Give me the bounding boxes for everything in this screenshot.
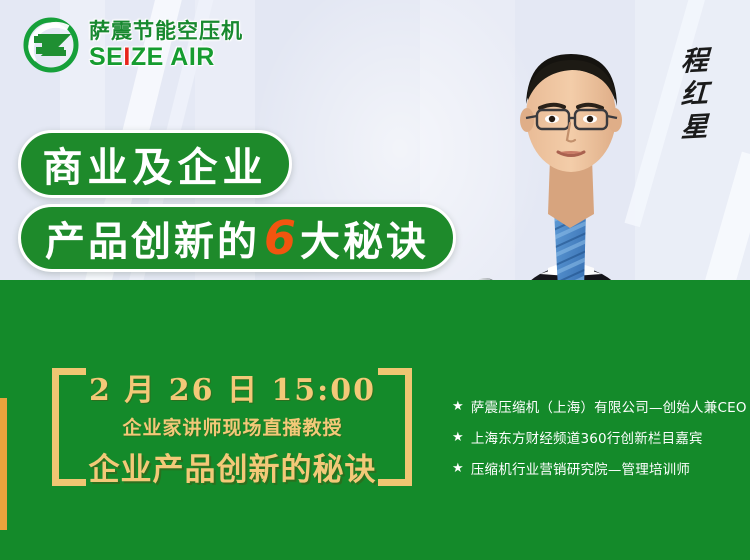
credential-item: ★ 萨震压缩机（上海）有限公司—创始人兼CEO [452,396,742,416]
brand-name-cn: 萨震节能空压机 [89,21,243,42]
bracket-left-vertical [52,368,59,486]
star-icon: ★ [452,431,464,444]
bracket-right-vertical [405,368,412,486]
speaker-name-char: 星 [680,113,708,141]
headline-line-2-before: 产品创新的 [45,209,260,267]
headline-line-1: 商业及企业 [18,130,292,198]
credential-item: ★ 压缩机行业营销研究院—管理培训师 [452,458,742,478]
brand-name-en: SEIZE AIR [89,45,243,70]
speaker-name-char: 红 [680,80,708,108]
star-icon: ★ [452,462,464,475]
credentials-list: ★ 萨震压缩机（上海）有限公司—创始人兼CEO ★ 上海东方财经频道360行创新… [452,396,742,478]
credential-item: ★ 上海东方财经频道360行创新栏目嘉宾 [452,427,742,447]
star-icon: ★ [452,400,464,413]
credential-text: 压缩机行业营销研究院—管理培训师 [471,458,690,478]
event-info: 2 月 26 日 15:00 企业家讲师现场直播教授 企业产品创新的秘诀 [60,368,405,486]
speaker-name-vertical: 程 红 星 [668,48,720,141]
event-subtitle: 企业家讲师现场直播教授 [122,413,342,440]
sz-circle-logo-icon [22,16,80,74]
event-datetime: 2 月 26 日 15:00 [89,365,376,409]
headline-line-2: 产品创新的6大秘诀 [18,204,456,272]
brand-wordmark: 萨震节能空压机 SEIZE AIR [89,21,243,70]
credential-text: 上海东方财经频道360行创新栏目嘉宾 [471,427,703,447]
headline-line-1-text: 商业及企业 [43,135,268,193]
brand-en-part1: SE [89,43,123,71]
brand-en-part2: ZE AIR [131,43,215,71]
headline-number: 6 [260,211,300,265]
promo-banner: 程 红 星 萨震节能空压机 SEIZE AIR 商业及企业 产品创新的6大秘诀 [0,0,750,560]
credential-text: 萨震压缩机（上海）有限公司—创始人兼CEO [471,396,747,416]
brand-en-accent: I [123,43,130,71]
speaker-name-char: 程 [680,47,708,75]
brand-logo: 萨震节能空压机 SEIZE AIR [22,16,243,74]
event-main-title: 企业产品创新的秘诀 [89,444,377,489]
orange-accent-stripe [0,398,7,530]
headline-line-2-after: 大秘诀 [300,209,429,267]
